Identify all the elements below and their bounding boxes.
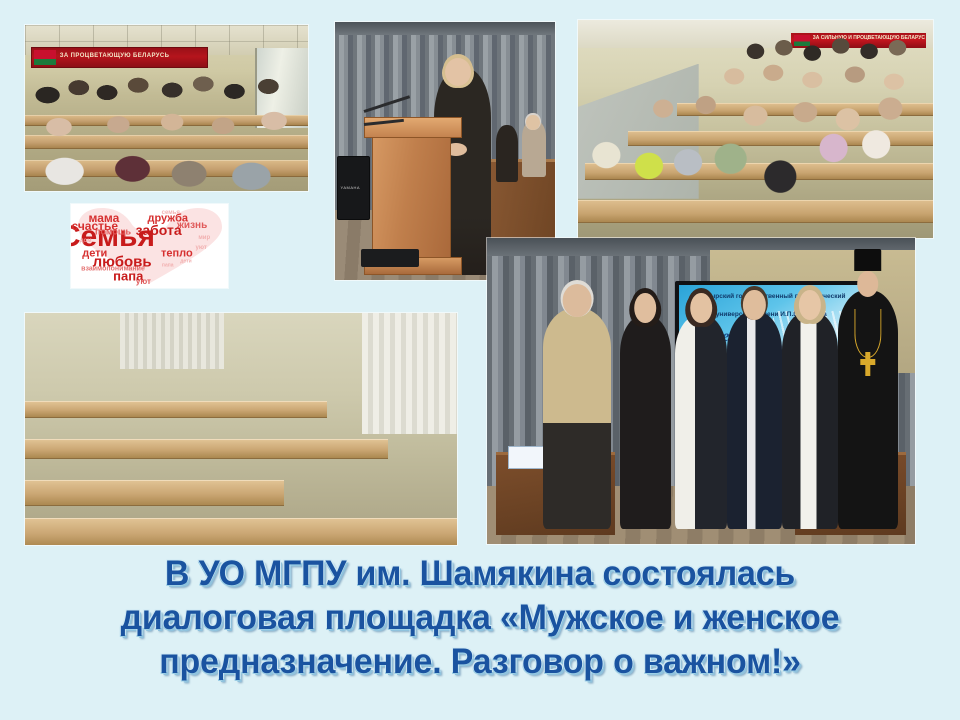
head	[799, 290, 821, 320]
photo-word-cloud-heart: Семьямамасчастьепомощьдружбажизньзаботад…	[71, 204, 228, 288]
belarus-flag-icon	[34, 50, 57, 65]
heart-shape: Семьямамасчастьепомощьдружбажизньзаботад…	[74, 207, 226, 285]
word-cloud-word: дом	[80, 238, 92, 244]
figure-man-in-sweater	[543, 308, 611, 528]
seated-person-a	[496, 125, 518, 182]
word-cloud-word: уют	[136, 278, 151, 286]
figure-orthodox-priest	[838, 290, 898, 529]
students-scene	[25, 313, 457, 545]
floor-equipment	[361, 249, 418, 267]
audience	[578, 37, 933, 216]
photo-group-participants: Мозырский государственный педагогический…	[487, 238, 915, 544]
banner-text: ЗА ПРОЦВЕТАЮЩУЮ БЕЛАРУСЬ	[60, 51, 204, 65]
head	[857, 271, 879, 297]
slide-canvas: ЗА ПРОЦВЕТАЮЩУЮ БЕЛАРУСЬ	[0, 0, 960, 720]
word-cloud-word: дети	[180, 259, 191, 264]
word-cloud-word: мир	[198, 235, 210, 241]
word-cloud-word: папа	[162, 264, 174, 269]
curtain-pelmet	[335, 22, 555, 35]
screen-title-line1: Мозырский государственный педагогический	[687, 293, 856, 300]
belarus-banner: ЗА ПРОЦВЕТАЮЩУЮ БЕЛАРУСЬ	[31, 47, 208, 69]
pectoral-cross-icon	[865, 352, 870, 376]
hall-scene: ЗА ПРОЦВЕТАЮЩУЮ БЕЛАРУСЬ	[25, 25, 308, 191]
figure-woman-dark-1	[620, 315, 671, 529]
photo-students-closeup	[25, 313, 457, 545]
skufia-hat-icon	[854, 249, 882, 270]
group-scene: Мозырский государственный педагогический…	[487, 238, 915, 544]
word-cloud-word: помощь	[95, 227, 131, 236]
slide-caption: В УО МГПУ им. Шамякина состоялась диалог…	[0, 552, 960, 702]
hall-wide-scene: ЗА СИЛЬНУЮ И ПРОЦВЕТАЮЩУЮ БЕЛАРУСЬ	[578, 20, 933, 238]
head	[562, 284, 591, 317]
head	[743, 290, 765, 320]
seated-person-b-head	[526, 115, 539, 130]
head	[690, 293, 712, 323]
head	[635, 293, 657, 323]
yamaha-logo-text: YAMAHA	[341, 185, 361, 190]
word-cloud-word: уют	[196, 245, 207, 251]
caption-line-1: В УО МГПУ им. Шамякина состоялась	[14, 552, 945, 596]
audience	[25, 322, 457, 535]
word-cloud-word: забота	[136, 223, 182, 237]
caption-line-2: диалоговая площадка «Мужское и женское	[14, 596, 945, 640]
photo-lecture-hall-wide: ЗА СИЛЬНУЮ И ПРОЦВЕТАЮЩУЮ БЕЛАРУСЬ	[578, 20, 933, 238]
caption-line-3: предназначение. Разговор о важном!»	[14, 640, 945, 684]
word-cloud-word: семья	[162, 210, 180, 216]
figure-woman-white-top	[675, 315, 726, 529]
audience	[25, 68, 308, 191]
figure-man-in-suit	[727, 311, 783, 528]
figure-woman-blazer	[782, 311, 838, 528]
word-cloud-canvas: Семьямамасчастьепомощьдружбажизньзаботад…	[71, 204, 228, 288]
word-cloud-words: Семьямамасчастьепомощьдружбажизньзаботад…	[74, 207, 226, 285]
photo-lecture-hall-left: ЗА ПРОЦВЕТАЮЩУЮ БЕЛАРУСЬ	[25, 25, 308, 191]
cross-chain	[854, 309, 881, 358]
